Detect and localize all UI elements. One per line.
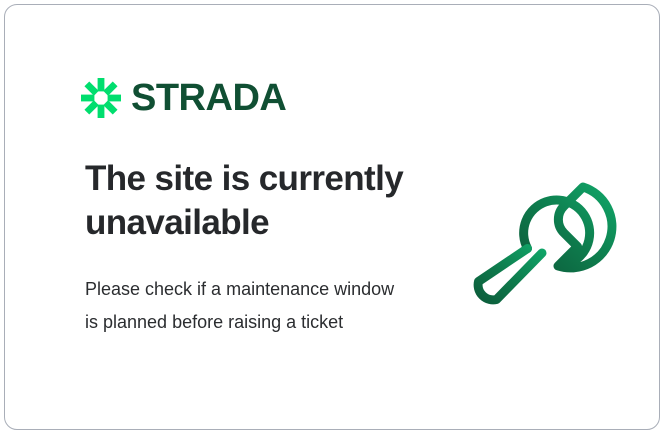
strada-asterisk-icon xyxy=(81,78,121,118)
page-description: Please check if a maintenance window is … xyxy=(85,273,395,339)
error-page: STRADA The site is currently unavailable… xyxy=(0,0,666,436)
message-card: STRADA The site is currently unavailable… xyxy=(4,4,660,430)
brand-wordmark: STRADA xyxy=(131,79,286,117)
brand-lockup: STRADA xyxy=(81,75,286,121)
page-title: The site is currently unavailable xyxy=(85,157,425,245)
wrench-icon xyxy=(457,153,627,323)
